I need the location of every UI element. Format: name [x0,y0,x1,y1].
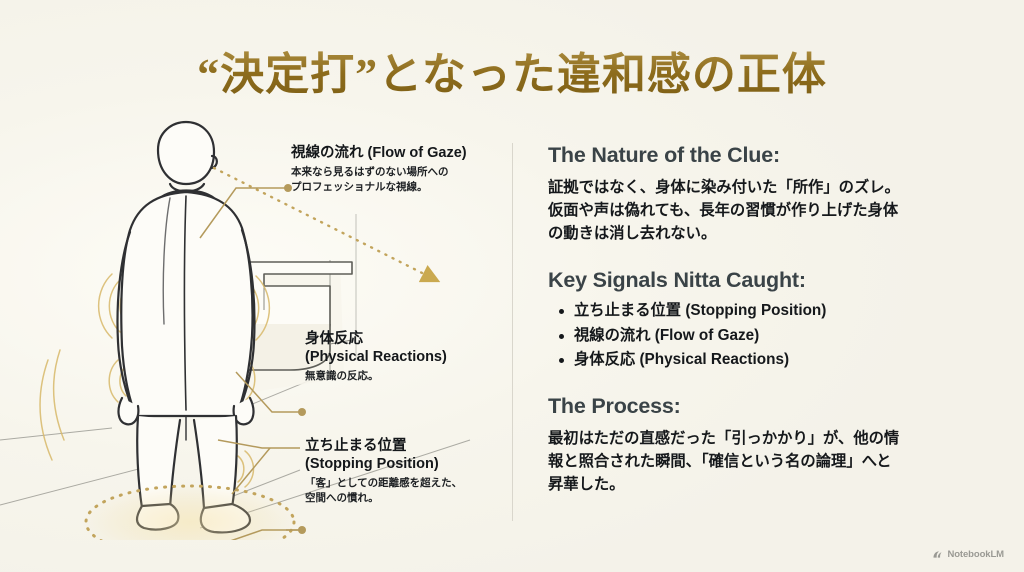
callout-stop-subtext: 「客」としての距離感を超えた、 空間への慣れ。 [305,476,462,505]
callout-gaze-title: 視線の流れ (Flow of Gaze) [291,144,467,162]
callout-gaze-subline-1: 本来なら見るはずのない場所への [291,165,467,179]
callout-physical-subtext: 無意識の反応。 [305,369,447,383]
section1-line-2: 仮面や声は偽れても、長年の習慣が作り上げた身体 [548,199,992,222]
section1-line-3: の動きは消し去れない。 [548,222,992,245]
slide-canvas: “決定打”となった違和感の正体 [0,0,1024,572]
watermark-label: NotebookLM [947,549,1004,560]
callout-stop-title-ja: 立ち止まる位置 [305,437,462,455]
section-nature-of-the-clue: The Nature of the Clue: 証拠ではなく、身体に染み付いた「… [548,143,992,246]
section3-line-2: 報と照合された瞬間、「確信という名の論理」へと [548,450,992,473]
section3-line-1: 最初はただの直感だった「引っかかり」が、他の情 [548,427,992,450]
standing-man-figure [118,122,255,532]
callout-physical-subline-1: 無意識の反応。 [305,369,447,383]
list-item: 視線の流れ (Flow of Gaze) [574,324,992,348]
key-signals-list: 立ち止まる位置 (Stopping Position) 視線の流れ (Flow … [548,299,992,371]
notebooklm-logo-icon [932,549,943,560]
callout-stop-subline-1: 「客」としての距離感を超えた、 [305,476,462,490]
callout-physical-title: 身体反応 (Physical Reactions) [305,330,447,366]
callout-gaze-subline-2: プロフェッショナルな視線。 [291,180,467,194]
notebooklm-watermark: NotebookLM [932,549,1004,560]
callout-physical-title-en: (Physical Reactions) [305,348,447,366]
section3-line-3: 昇華した。 [548,473,992,496]
section-key-signals: Key Signals Nitta Caught: 立ち止まる位置 (Stopp… [548,268,992,372]
callout-physical-title-ja: 身体反応 [305,330,447,348]
section1-line-1: 証拠ではなく、身体に染み付いた「所作」のズレ。 [548,176,992,199]
section1-body: 証拠ではなく、身体に染み付いた「所作」のズレ。 仮面や声は偽れても、長年の習慣が… [548,176,992,246]
callout-gaze-subtext: 本来なら見るはずのない場所への プロフェッショナルな視線。 [291,165,467,194]
section-the-process: The Process: 最初はただの直感だった「引っかかり」が、他の情 報と照… [548,394,992,497]
callout-flow-of-gaze: 視線の流れ (Flow of Gaze) 本来なら見るはずのない場所への プロフ… [291,144,467,194]
list-item: 立ち止まる位置 (Stopping Position) [574,299,992,323]
section3-heading: The Process: [548,394,992,420]
callout-stop-title-en: (Stopping Position) [305,455,462,473]
dotted-floor-ellipse [82,484,298,540]
callout-stop-title: 立ち止まる位置 (Stopping Position) [305,437,462,473]
callout-physical-reactions: 身体反応 (Physical Reactions) 無意識の反応。 [305,330,447,384]
text-panel: The Nature of the Clue: 証拠ではなく、身体に染み付いた「… [548,143,992,496]
list-item: 身体反応 (Physical Reactions) [574,348,992,372]
section2-heading: Key Signals Nitta Caught: [548,268,992,294]
section1-heading: The Nature of the Clue: [548,143,992,169]
vertical-divider [512,143,513,521]
page-title: “決定打”となった違和感の正体 [0,38,1024,102]
callout-stopping-position: 立ち止まる位置 (Stopping Position) 「客」としての距離感を超… [305,437,462,505]
section3-body: 最初はただの直感だった「引っかかり」が、他の情 報と照合された瞬間、「確信という… [548,427,992,497]
callout-stop-subline-2: 空間への慣れ。 [305,491,462,505]
